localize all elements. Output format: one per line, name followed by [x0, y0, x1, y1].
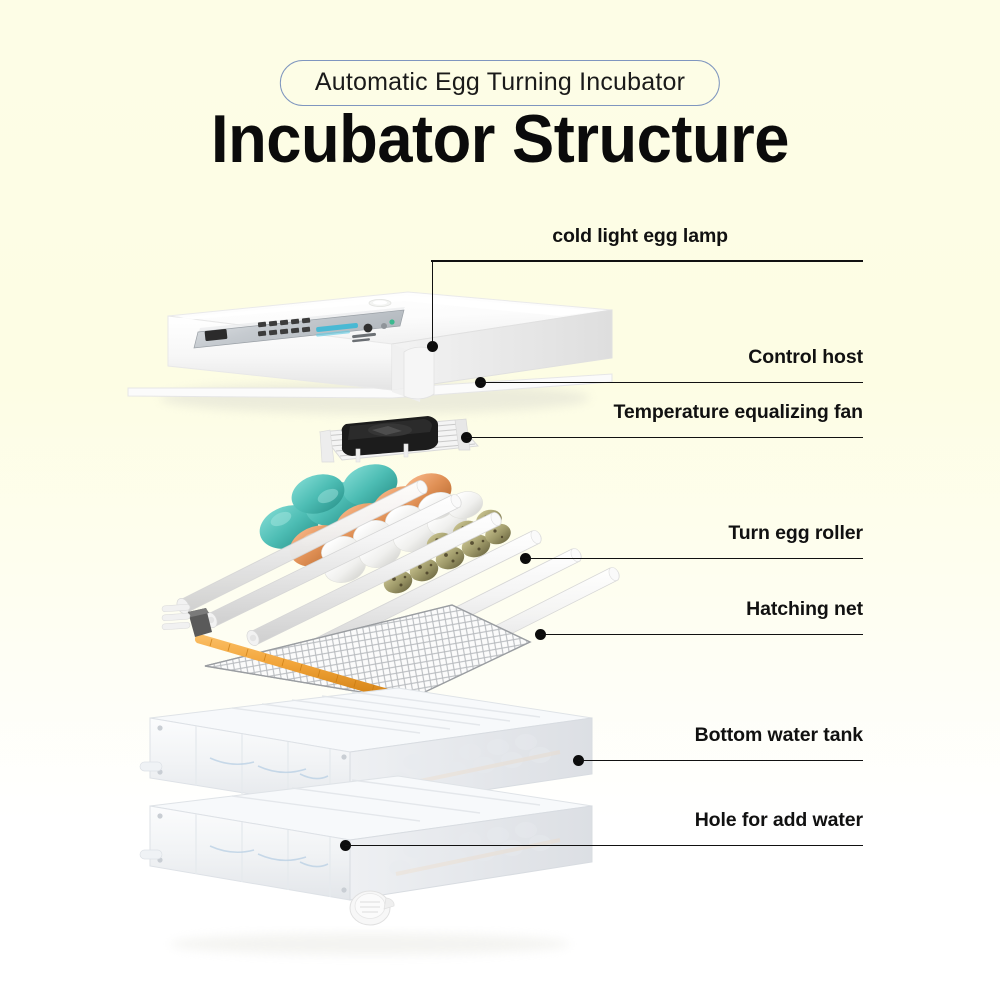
- leader-line: [525, 558, 863, 560]
- gear-prong: [162, 622, 190, 630]
- leader-line: [480, 382, 863, 384]
- incubator-exploded-view: [0, 0, 1000, 1000]
- leader-line: [578, 760, 863, 762]
- leader-line: [540, 634, 863, 636]
- gear-prong: [162, 613, 190, 621]
- callout-label: cold light egg lamp: [552, 225, 728, 248]
- tank-handle: [140, 850, 162, 859]
- leader-line: [345, 845, 863, 847]
- temperature-equalizing-fan-assembly: [320, 416, 478, 462]
- bottom-water-tank-lower: [140, 776, 592, 955]
- diagram-canvas: Automatic Egg Turning Incubator Incubato…: [0, 0, 1000, 1000]
- tank-handle: [140, 762, 162, 771]
- panel-indicator-led: [389, 319, 394, 324]
- control-host-corner-post: [404, 347, 434, 399]
- cold-light-egg-lamp: [369, 299, 391, 306]
- panel-knob: [364, 324, 373, 333]
- leader-line-vertical: [432, 261, 434, 345]
- hole-for-add-water-cap: [350, 891, 394, 925]
- leader-line: [466, 437, 863, 439]
- leader-line: [431, 260, 863, 262]
- control-host-assembly: [128, 292, 612, 414]
